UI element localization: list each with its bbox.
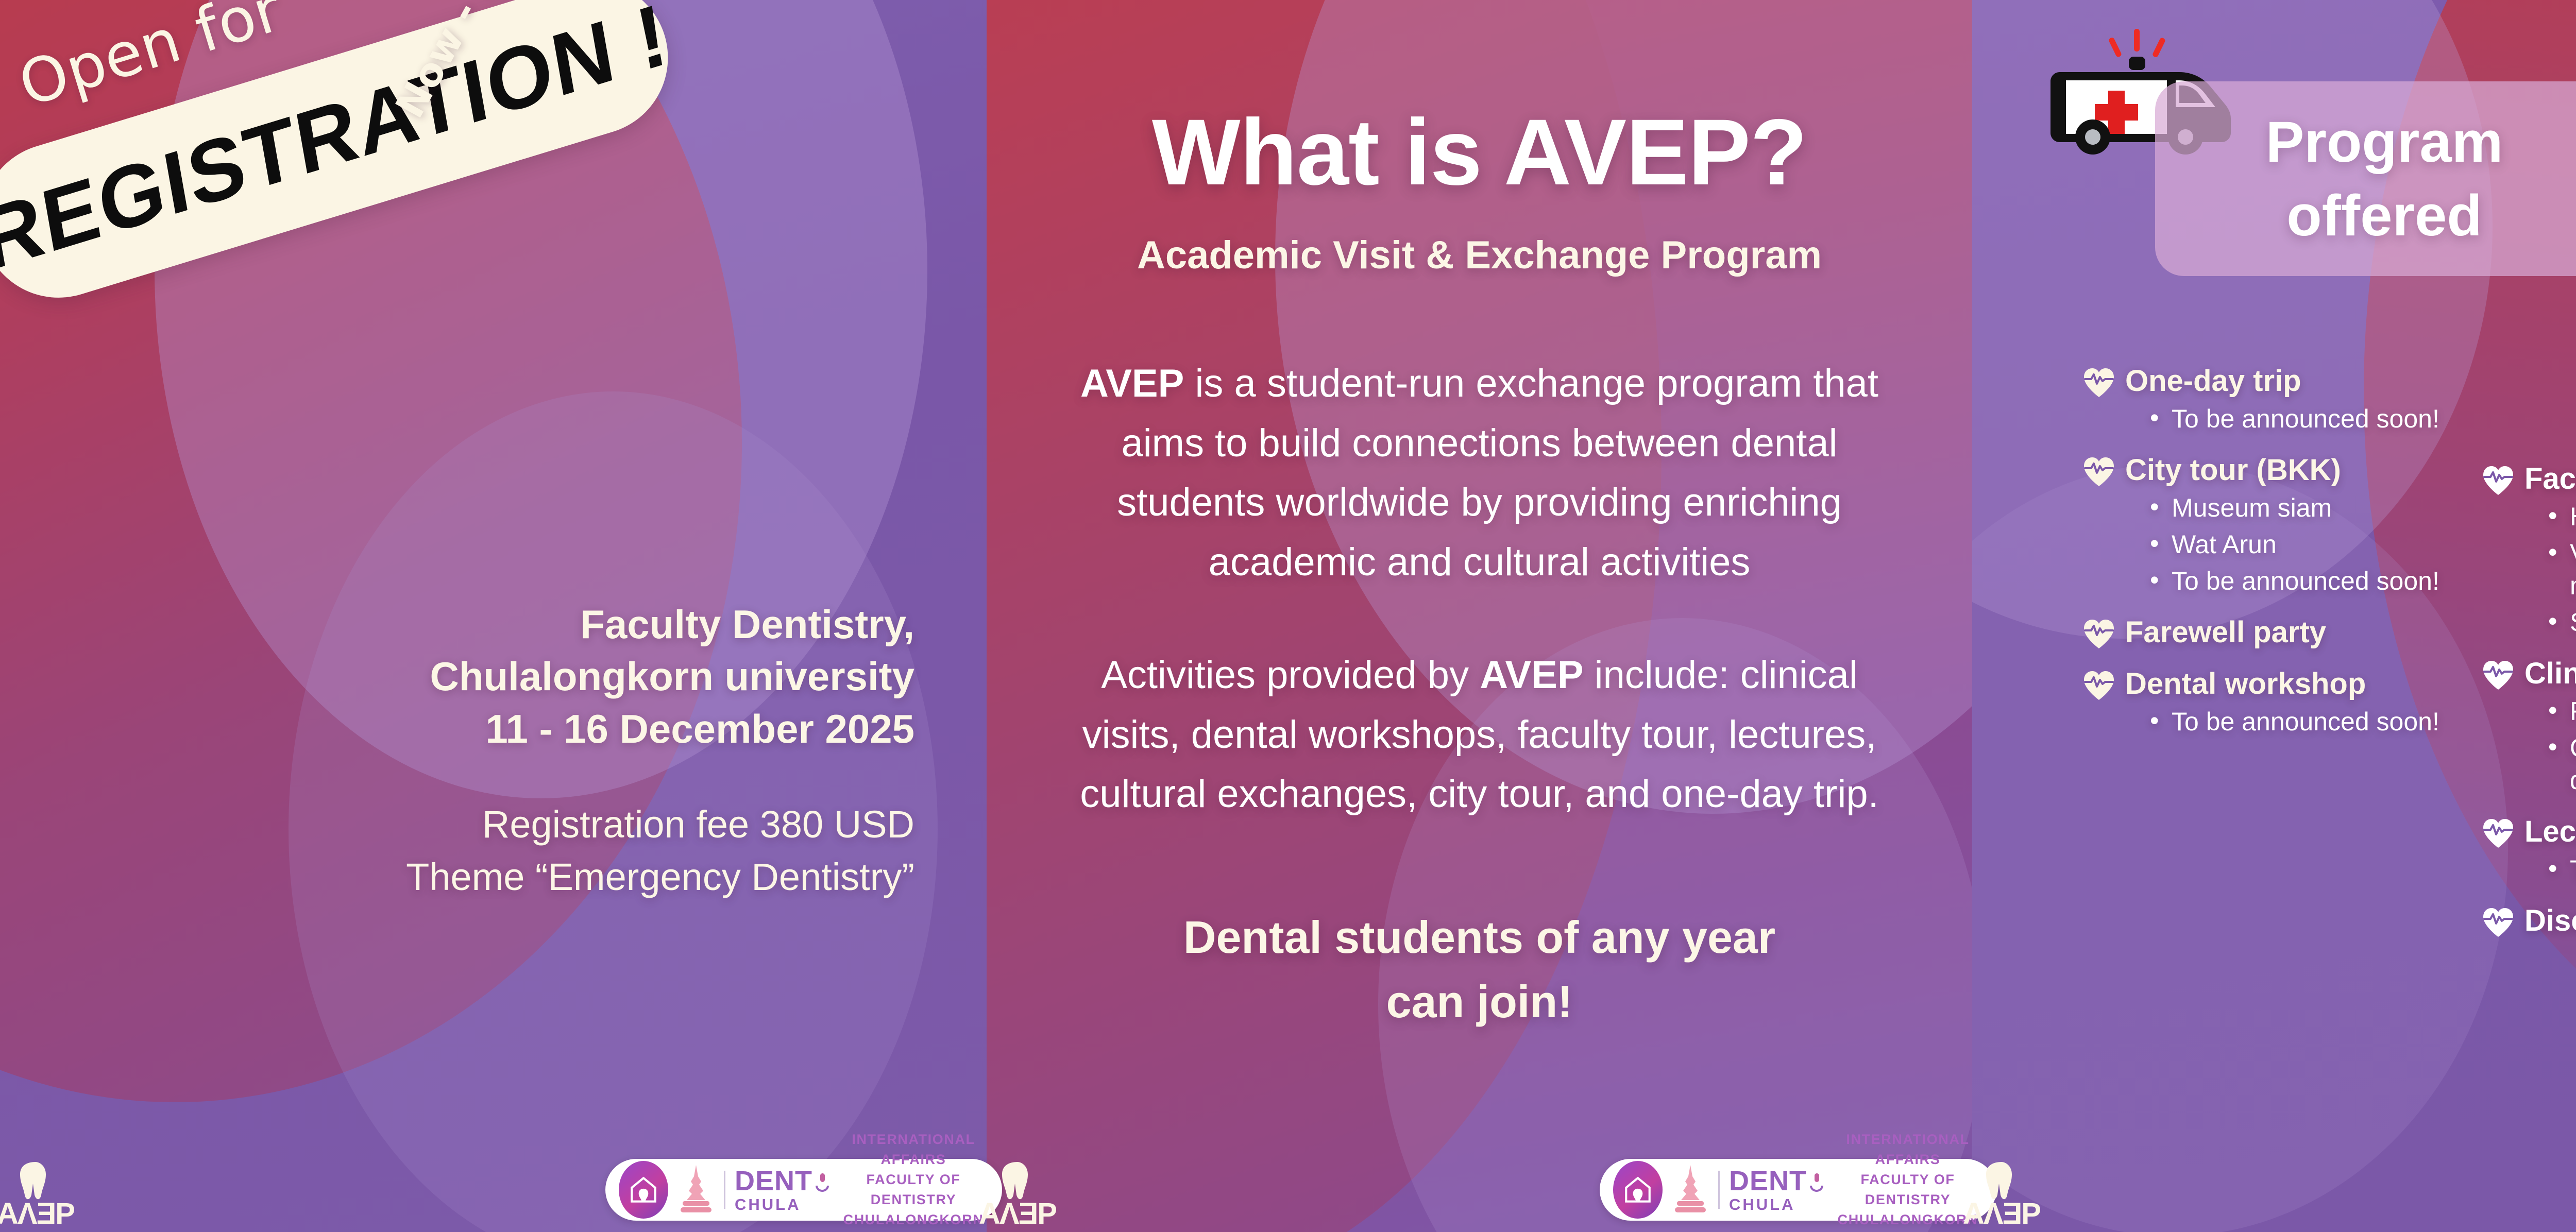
avep-watermark-logo: AΛƎP	[1963, 1152, 2040, 1229]
fee-line-1: Registration fee 380 USD	[406, 798, 914, 851]
program-item-bullets: Human body museumVach vidyavaddhana muse…	[2548, 501, 2576, 639]
avep-watermark-logo: AΛƎP	[0, 1152, 74, 1229]
program-item: Farewell party	[2083, 617, 2454, 649]
dent-chula-logo: DENT CHULA INTERNATIONAL AFFAIRSFACULTY …	[1600, 1159, 1996, 1221]
venue-line-3: 11 - 16 December 2025	[430, 703, 914, 755]
program-item-title: Clinical visit	[2524, 658, 2576, 690]
program-item-title: Dental workshop	[2125, 669, 2366, 700]
tooth-probe-icon	[816, 1172, 829, 1195]
program-offered-line-2: offered	[2266, 179, 2503, 252]
program-item-header: Lecture	[2482, 816, 2576, 848]
program-item-title: Farewell party	[2125, 617, 2326, 648]
avep-house-tooth-icon	[619, 1161, 668, 1219]
program-item: Discussion activity	[2482, 905, 2576, 937]
program-offered-text: Program offered	[2266, 105, 2503, 253]
program-item-header: Discussion activity	[2482, 905, 2576, 937]
program-item-header: Farewell party	[2083, 617, 2454, 649]
program-item-title: City tour (BKK)	[2125, 455, 2341, 486]
fee-block: Registration fee 380 USD Theme “Emergenc…	[406, 798, 914, 903]
program-item-bullets: Radiology departmentOral & Maxillofacial…	[2548, 695, 2576, 797]
program-bullet: Human body museum	[2548, 501, 2576, 533]
avep-description-paragraph: AVEP is a student-run exchange program t…	[1062, 354, 1897, 592]
program-bullet: To be announced soon!	[2150, 706, 2454, 738]
venue-line-2: Chulalongkorn university	[430, 651, 914, 703]
heart-pulse-icon	[2482, 660, 2514, 690]
eligibility-line-2: can join!	[987, 970, 1972, 1034]
panel-left: Open for REGISTRATION ! Now - 18 October…	[0, 0, 987, 1232]
svg-text:AΛƎP: AΛƎP	[1963, 1197, 2040, 1229]
program-item-bullets: Museum siamWat ArunTo be announced soon!	[2150, 492, 2454, 597]
panel-right: Program offered	[1972, 0, 2576, 1232]
affiliation-line: FACULTY OF DENTISTRY	[1833, 1170, 1983, 1210]
heart-pulse-icon	[2083, 368, 2115, 398]
program-item: City tour (BKK)Museum siamWat ArunTo be …	[2083, 455, 2454, 597]
program-bullet: Oral & Maxillofacial surgery department	[2548, 732, 2576, 797]
heart-pulse-icon	[2482, 908, 2514, 937]
chula-word: CHULA	[1729, 1196, 1823, 1212]
svg-text:AΛƎP: AΛƎP	[979, 1197, 1056, 1229]
avep-activities-pre: Activities provided by	[1101, 653, 1480, 697]
affiliation-line: CHULALONGKORN UNIVERSITY	[838, 1210, 989, 1232]
dent-word: DENT	[1729, 1167, 1807, 1195]
program-item: One-day tripTo be announced soon!	[2083, 366, 2454, 435]
program-item: LectureTo be announced soon!	[2482, 816, 2576, 886]
affiliation-line: INTERNATIONAL AFFAIRS	[1833, 1130, 1983, 1170]
program-item: Faculty tourHuman body museumVach vidyav…	[2482, 464, 2576, 639]
eligibility-line-1: Dental students of any year	[987, 905, 1972, 970]
venue-block: Faculty Dentistry, Chulalongkorn univers…	[430, 598, 914, 755]
avep-watermark-logo: AΛƎP	[979, 1152, 1056, 1229]
avep-subtitle: Academic Visit & Exchange Program	[987, 233, 1972, 278]
affiliation-line: CHULALONGKORN UNIVERSITY	[1833, 1210, 1983, 1232]
dent-chula-wordmark: DENT CHULA	[1729, 1167, 1823, 1212]
heart-pulse-icon	[2482, 466, 2514, 495]
program-item-title: One-day trip	[2125, 366, 2301, 397]
avep-bold-2: AVEP	[1480, 653, 1583, 697]
avep-description-text: is a student-run exchange program that a…	[1117, 362, 1878, 584]
program-item-header: Dental workshop	[2083, 669, 2454, 700]
panel-middle: What is AVEP? Academic Visit & Exchange …	[987, 0, 1972, 1232]
program-bullet: Museum siam	[2150, 492, 2454, 524]
program-item-header: City tour (BKK)	[2083, 455, 2454, 487]
program-item-title: Lecture	[2524, 816, 2576, 848]
heart-pulse-icon	[2083, 619, 2115, 649]
venue-line-1: Faculty Dentistry,	[430, 598, 914, 651]
program-item-header: Faculty tour	[2482, 464, 2576, 495]
program-item: Clinical visitRadiology departmentOral &…	[2482, 658, 2576, 797]
heart-pulse-icon	[2083, 457, 2115, 487]
program-bullet: Wat Arun	[2150, 528, 2454, 561]
program-bullet: To be announced soon!	[2150, 403, 2454, 435]
program-bullet: To be announced soon!	[2548, 853, 2576, 886]
avep-activities-paragraph: Activities provided by AVEP include: cli…	[1062, 645, 1897, 824]
affiliation-line: INTERNATIONAL AFFAIRS	[838, 1130, 989, 1170]
heart-pulse-icon	[2482, 818, 2514, 848]
program-item-bullets: To be announced soon!	[2150, 403, 2454, 435]
svg-text:AΛƎP: AΛƎP	[0, 1197, 74, 1229]
program-item-title: Discussion activity	[2524, 905, 2576, 937]
dent-word: DENT	[735, 1167, 812, 1195]
logo-divider	[1718, 1171, 1720, 1209]
affiliation-text: INTERNATIONAL AFFAIRSFACULTY OF DENTISTR…	[838, 1130, 989, 1232]
avep-bold-1: AVEP	[1080, 362, 1184, 405]
dent-chula-logo: DENT CHULA INTERNATIONAL AFFAIRSFACULTY …	[605, 1159, 1002, 1221]
chula-word: CHULA	[735, 1196, 829, 1212]
avep-title: What is AVEP?	[987, 98, 1972, 206]
eligibility-callout: Dental students of any year can join!	[987, 905, 1972, 1034]
program-item-title: Faculty tour	[2524, 464, 2576, 495]
fee-line-2: Theme “Emergency Dentistry”	[406, 851, 914, 903]
logo-divider	[724, 1171, 725, 1209]
tooth-probe-icon	[1810, 1172, 1823, 1195]
program-item-bullets: To be announced soon!	[2150, 706, 2454, 738]
program-bullet: Simodont | Dental stimulator	[2548, 606, 2576, 639]
program-bullet: To be announced soon!	[2150, 565, 2454, 597]
program-offered-chip: Program offered	[2155, 81, 2576, 276]
program-bullet: Radiology department	[2548, 695, 2576, 728]
program-item: Dental workshopTo be announced soon!	[2083, 669, 2454, 738]
program-item-header: One-day trip	[2083, 366, 2454, 398]
affiliation-line: FACULTY OF DENTISTRY	[838, 1170, 989, 1210]
program-item-header: Clinical visit	[2482, 658, 2576, 690]
program-column-right: Faculty tourHuman body museumVach vidyav…	[2482, 464, 2576, 957]
program-offered-line-1: Program	[2266, 105, 2503, 179]
chula-emblem-icon	[677, 1164, 715, 1216]
dent-chula-wordmark: DENT CHULA	[735, 1167, 829, 1212]
poster-canvas: Open for REGISTRATION ! Now - 18 October…	[0, 0, 2576, 1232]
avep-house-tooth-icon	[1613, 1161, 1663, 1219]
affiliation-text: INTERNATIONAL AFFAIRSFACULTY OF DENTISTR…	[1833, 1130, 1983, 1232]
program-bullet: Vach vidyavaddhana museum	[2548, 537, 2576, 602]
heart-pulse-icon	[2083, 671, 2115, 700]
chula-emblem-icon	[1672, 1164, 1709, 1216]
program-column-left: One-day tripTo be announced soon! City t…	[2083, 366, 2454, 758]
program-item-bullets: To be announced soon!	[2548, 853, 2576, 886]
